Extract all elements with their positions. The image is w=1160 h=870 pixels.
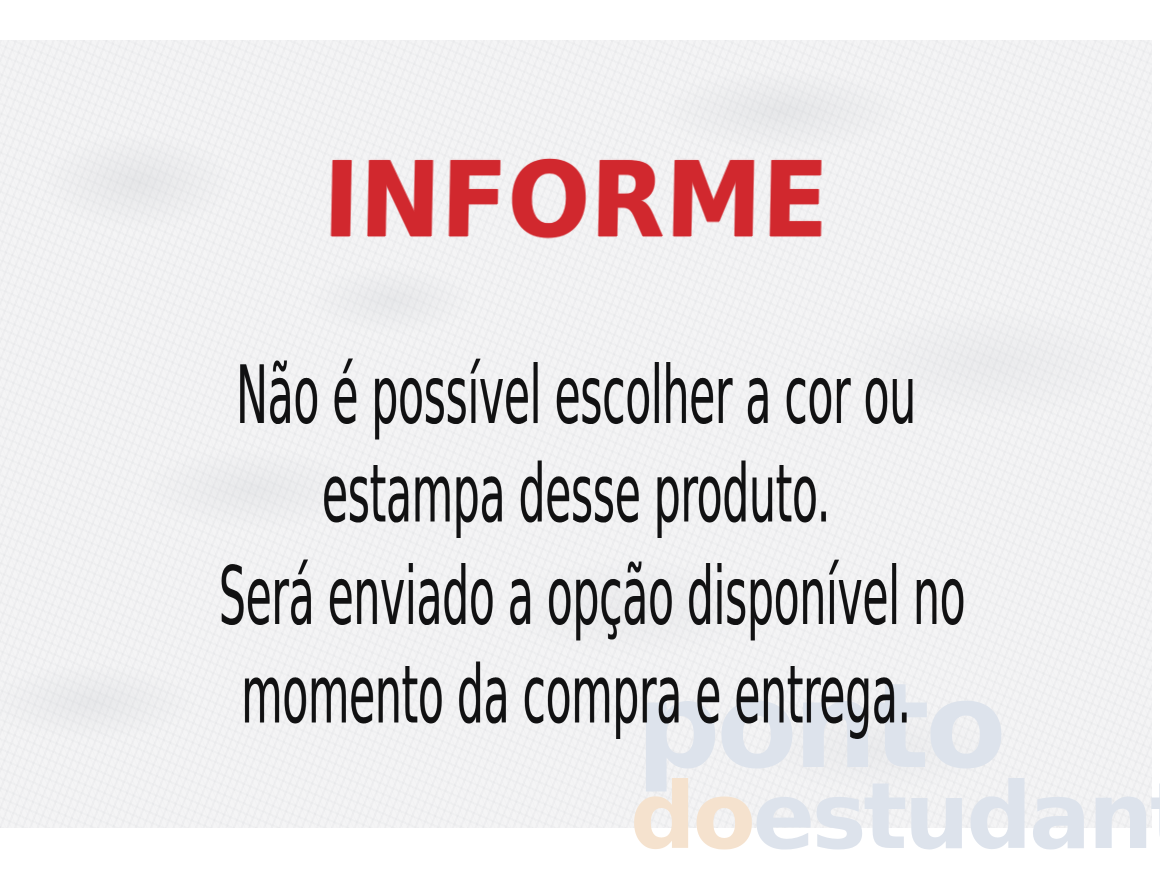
page-title: INFORME [39,148,1112,252]
notice-paragraph-1-line-2: estampa desse produto. [219,445,933,543]
notice-paragraph-2-line-2: momento da compra e entrega. [219,646,933,744]
notice-paragraph-2: Será enviado a opção disponível no momen… [219,548,933,745]
notice-paragraph-2-line-1: Será enviado a opção disponível no [219,548,933,646]
notice-body: Não é possível escolher a cor ou estampa… [0,352,1152,739]
notice-paragraph-1-line-1: Não é possível escolher a cor ou [219,346,933,444]
informe-notice-card: ponto doestudante INFORME Não é possível… [0,0,1160,870]
notice-paragraph-1: Não é possível escolher a cor ou estampa… [219,346,933,543]
